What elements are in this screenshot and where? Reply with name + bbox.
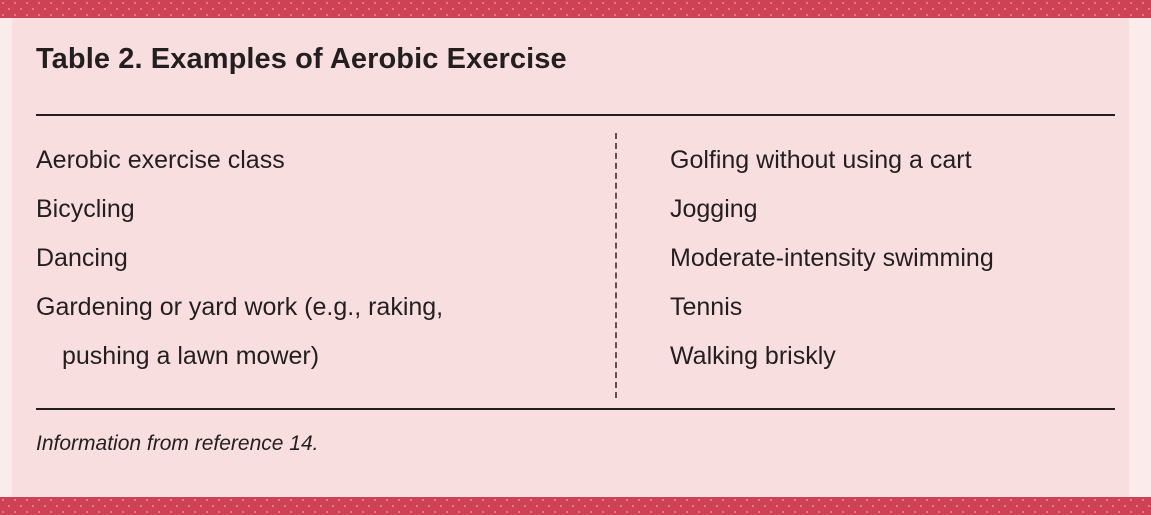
list-item: Bicycling (36, 185, 596, 234)
table-column-right: Golfing without using a cart Jogging Mod… (670, 136, 1130, 381)
table-title: Table 2. Examples of Aerobic Exercise (36, 43, 567, 76)
source-note: Information from reference 14. (36, 432, 318, 456)
list-item: Dancing (36, 234, 596, 283)
table-column-left: Aerobic exercise class Bicycling Dancing… (36, 136, 596, 381)
top-accent-bar (0, 0, 1151, 18)
list-item: Tennis (670, 283, 1130, 332)
list-item: Jogging (670, 185, 1130, 234)
table-body: Aerobic exercise class Bicycling Dancing… (0, 136, 1151, 398)
list-item: Golfing without using a cart (670, 136, 1130, 185)
list-item: Aerobic exercise class (36, 136, 596, 185)
table-bottom-rule (36, 408, 1115, 410)
bottom-accent-bar (0, 497, 1151, 515)
table-top-rule (36, 114, 1115, 116)
table-figure: Table 2. Examples of Aerobic Exercise Ae… (0, 0, 1151, 515)
list-item: Gardening or yard work (e.g., raking, pu… (36, 283, 596, 381)
list-item: Moderate-intensity swimming (670, 234, 1130, 283)
list-item: Walking briskly (670, 332, 1130, 381)
